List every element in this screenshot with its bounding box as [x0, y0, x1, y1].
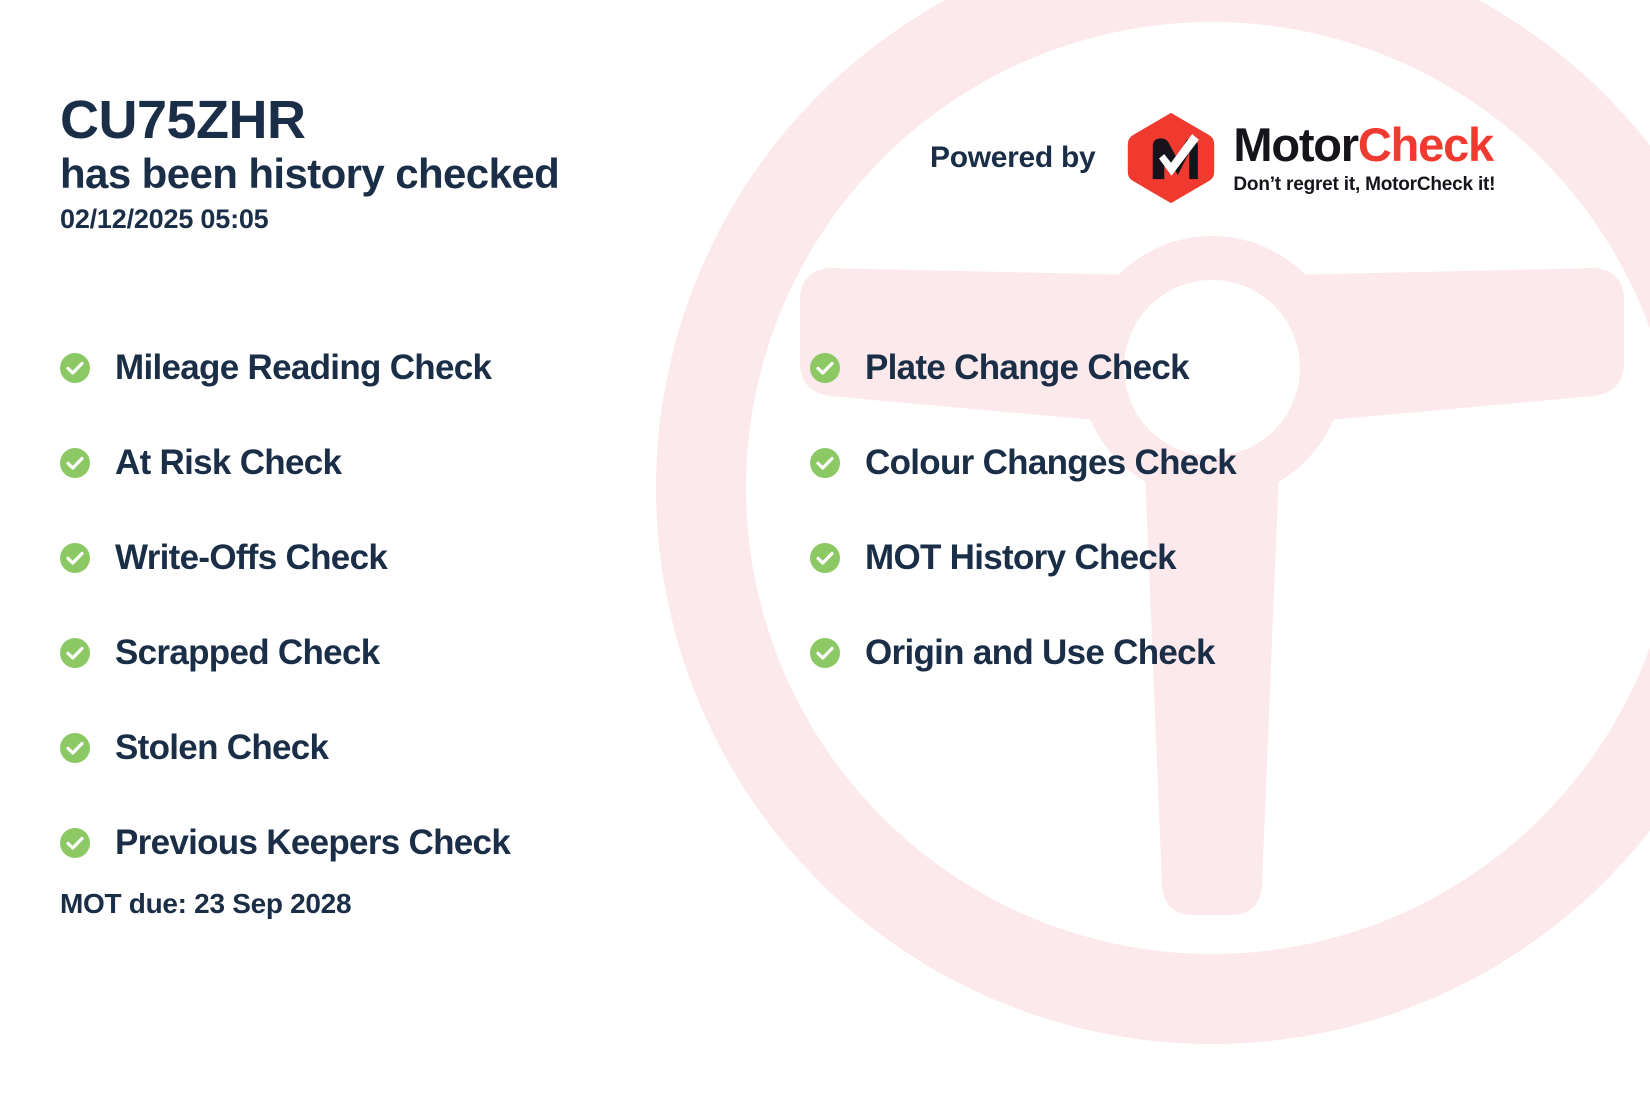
check-label: MOT History Check — [865, 538, 1176, 578]
list-item: At Risk Check — [60, 415, 510, 510]
checks-column-right: Plate Change Check Colour Changes Check … — [810, 320, 1236, 700]
list-item: Plate Change Check — [810, 320, 1236, 415]
check-label: Origin and Use Check — [865, 633, 1215, 673]
vehicle-registration: CU75ZHR — [60, 92, 559, 149]
mot-due-text: MOT due: 23 Sep 2028 — [60, 888, 351, 920]
list-item: Origin and Use Check — [810, 605, 1236, 700]
motorcheck-tagline: Don’t regret it, MotorCheck it! — [1233, 174, 1495, 196]
check-label: Colour Changes Check — [865, 443, 1236, 483]
check-label: Previous Keepers Check — [115, 823, 510, 863]
green-check-circle-icon — [60, 543, 90, 573]
motorcheck-hexagon-logo-icon — [1123, 110, 1219, 206]
green-check-circle-icon — [60, 638, 90, 668]
check-label: Mileage Reading Check — [115, 348, 491, 388]
list-item: Previous Keepers Check — [60, 795, 510, 890]
green-check-circle-icon — [810, 638, 840, 668]
list-item: Mileage Reading Check — [60, 320, 510, 415]
check-timestamp: 02/12/2025 05:05 — [60, 204, 559, 235]
list-item: Write-Offs Check — [60, 510, 510, 605]
list-item: MOT History Check — [810, 510, 1236, 605]
check-label: Plate Change Check — [865, 348, 1189, 388]
check-label: Scrapped Check — [115, 633, 379, 673]
green-check-circle-icon — [60, 733, 90, 763]
powered-by-label: Powered by — [930, 141, 1095, 175]
green-check-circle-icon — [810, 543, 840, 573]
list-item: Scrapped Check — [60, 605, 510, 700]
check-label: At Risk Check — [115, 443, 341, 483]
green-check-circle-icon — [60, 448, 90, 478]
header-block: CU75ZHR has been history checked 02/12/2… — [60, 92, 559, 235]
list-item: Colour Changes Check — [810, 415, 1236, 510]
check-label: Write-Offs Check — [115, 538, 387, 578]
wordmark-check: Check — [1358, 118, 1493, 171]
motorcheck-wordmark: MotorCheck — [1233, 121, 1495, 168]
motorcheck-wordmark-block: MotorCheck Don’t regret it, MotorCheck i… — [1233, 121, 1495, 196]
wordmark-motor: Motor — [1233, 118, 1358, 171]
green-check-circle-icon — [810, 353, 840, 383]
history-check-card: CU75ZHR has been history checked 02/12/2… — [0, 0, 1650, 1100]
green-check-circle-icon — [810, 448, 840, 478]
page-title: has been history checked — [60, 149, 559, 199]
check-label: Stolen Check — [115, 728, 328, 768]
list-item: Stolen Check — [60, 700, 510, 795]
green-check-circle-icon — [60, 828, 90, 858]
checks-column-left: Mileage Reading Check At Risk Check Writ… — [60, 320, 510, 890]
green-check-circle-icon — [60, 353, 90, 383]
powered-by-block: Powered by MotorCheck Don’t regret it, M… — [930, 110, 1495, 206]
